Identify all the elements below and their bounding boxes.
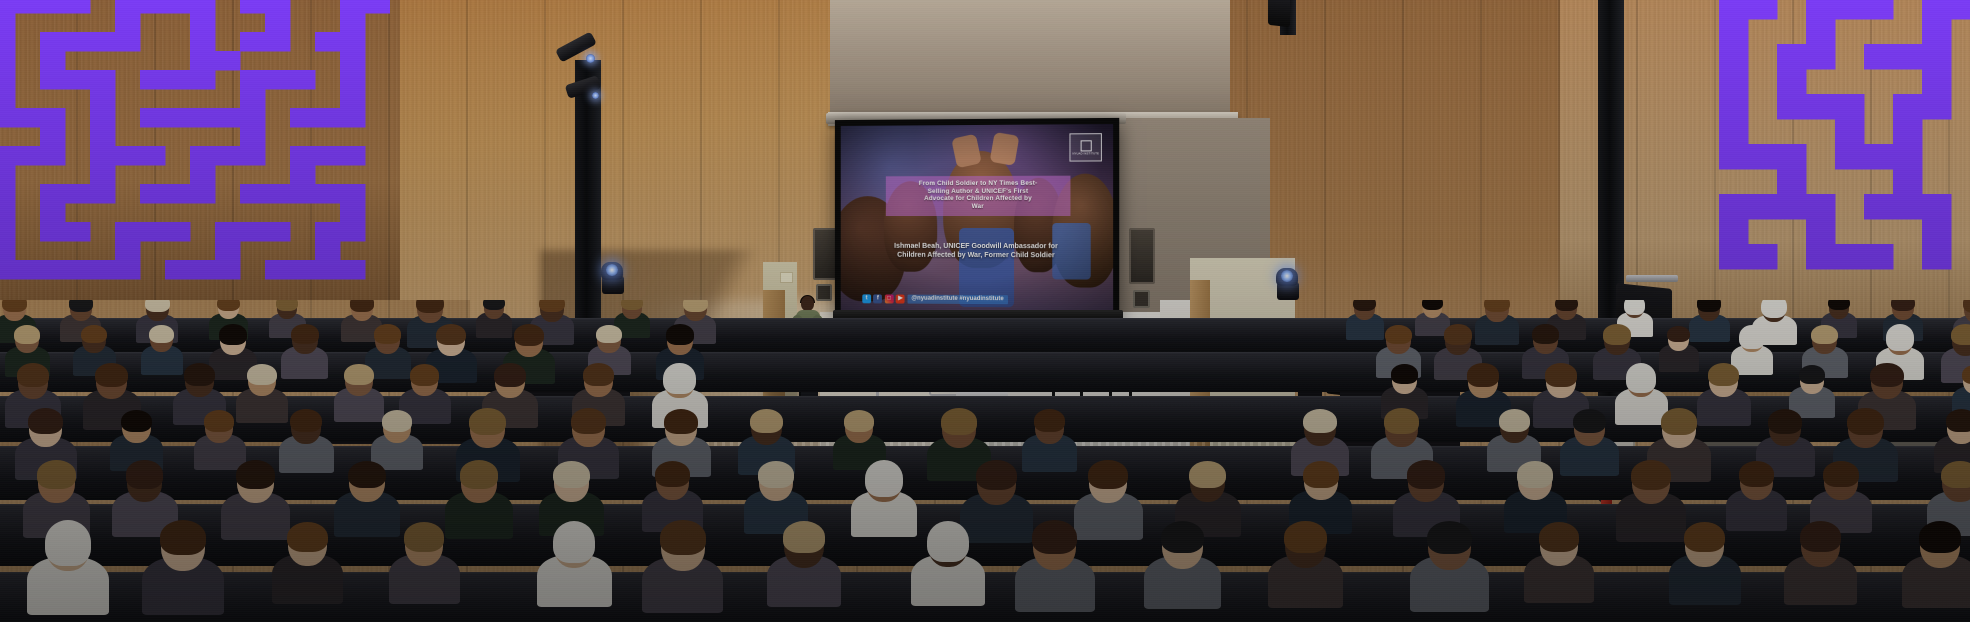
- wall-speaker-right: [1129, 228, 1155, 284]
- audience-member-hair: [1800, 521, 1841, 552]
- audience-member-hair: [1499, 409, 1530, 432]
- audience-member-hair: [184, 363, 215, 386]
- audience-member-hair: [1919, 521, 1962, 553]
- audience-member-hair: [460, 460, 499, 489]
- audience-member-hair: [1407, 460, 1445, 488]
- audience-member-hair: [247, 364, 277, 386]
- audience-member-hair: [404, 522, 445, 552]
- audience-member-hair: [1353, 300, 1376, 311]
- auditorium-photo: NYUAD INSTITUTE From Child Soldier to NY…: [0, 0, 1970, 622]
- audience-member-hair: [1161, 521, 1204, 554]
- kufic-calligraphy-left: [0, 0, 390, 294]
- audience-member-hair: [287, 522, 328, 552]
- audience-member-hair: [1303, 409, 1337, 434]
- audience-member-hair: [1886, 324, 1914, 351]
- profile-spot-light: [556, 40, 596, 54]
- audience-member-hair: [539, 300, 565, 312]
- audience-member-hair: [469, 408, 506, 435]
- nyuad-institute-logo: NYUAD INSTITUTE: [1070, 134, 1102, 162]
- audience-member-hair: [1539, 522, 1579, 552]
- audience-member-hair: [1034, 409, 1065, 432]
- audience-member-hair: [1573, 409, 1607, 434]
- audience-member-hair: [350, 300, 374, 312]
- audience-member-hair: [514, 324, 544, 346]
- audience-member-hair: [1761, 300, 1787, 318]
- audience-member-hair: [291, 324, 318, 344]
- audience-member-hair: [290, 409, 322, 432]
- audience-member-hair: [664, 409, 698, 434]
- audience-member-hair: [17, 363, 49, 387]
- projection-screen: NYUAD INSTITUTE From Child Soldier to NY…: [835, 118, 1119, 320]
- audience-member-hair: [1661, 408, 1698, 435]
- audience-member-hair: [1517, 461, 1553, 488]
- audience-member-hair: [666, 324, 694, 344]
- audience-member-hair: [553, 461, 591, 489]
- audience-member-hair: [941, 408, 977, 435]
- audience-member-hair: [149, 325, 174, 343]
- audience-member-hair: [663, 363, 695, 394]
- audience-member-hair: [571, 408, 606, 434]
- audience-member-hair: [660, 520, 706, 554]
- audience-member-hair: [927, 521, 969, 562]
- audience-member-hair: [416, 300, 443, 313]
- audience-member-hair: [1555, 300, 1578, 311]
- audience-member-hair: [583, 363, 614, 386]
- audience-member-hair: [783, 521, 825, 552]
- audience-member-hair: [276, 300, 298, 311]
- slide-subtitle: Ishmael Beah, UNICEF Goodwill Ambassador…: [851, 241, 1102, 260]
- audience-member-hair: [844, 410, 874, 432]
- audience-member-hair: [1626, 363, 1657, 392]
- audience-member-hair: [1422, 300, 1443, 310]
- audience-member-hair: [382, 410, 412, 432]
- audience-member-hair: [1532, 324, 1559, 344]
- ceiling-soffit: [830, 0, 1230, 122]
- audience-member-hair: [1870, 363, 1903, 388]
- audience-member-hair: [1631, 460, 1671, 490]
- audience-member-hair: [145, 300, 170, 312]
- audience-member-hair: [217, 300, 240, 311]
- audience-member-hair: [758, 461, 794, 488]
- audience-member-hair: [1684, 522, 1725, 553]
- audience-member-hair: [69, 300, 93, 312]
- speaker-flybar: [1626, 275, 1678, 282]
- profile-spot-light-2: [566, 80, 600, 94]
- audience-member-hair: [219, 324, 247, 344]
- kufic-calligraphy-right: [1690, 0, 1970, 294]
- audience-member-hair: [121, 410, 152, 432]
- slide-title-line-4: War: [891, 203, 1065, 211]
- audience-member-hair: [1603, 324, 1631, 344]
- audience-member-hair: [348, 461, 386, 489]
- audience-member-hair: [1941, 461, 1970, 489]
- audience-member-hair: [683, 300, 708, 312]
- wall-speaker-left: [813, 228, 837, 280]
- audience-member-hair: [1708, 363, 1739, 386]
- audience-member-hair: [1624, 300, 1645, 315]
- logo-square-mark: [1080, 140, 1091, 151]
- audience-member-hair: [865, 460, 903, 497]
- audience-member-hair: [1823, 461, 1859, 487]
- presentation-slide: NYUAD INSTITUTE From Child Soldier to NY…: [841, 124, 1113, 314]
- audience-member-hair: [1847, 408, 1884, 435]
- audience-member-hair: [553, 521, 595, 562]
- audience-member-hair: [344, 364, 373, 385]
- audience-member-hair: [655, 461, 690, 487]
- audience-member-hair: [410, 364, 440, 386]
- audience-member-hair: [37, 460, 75, 489]
- audience-member-hair: [28, 408, 64, 434]
- slide-title-box: From Child Soldier to NY Times Best- Sel…: [886, 175, 1070, 216]
- line-array-speaker-top: [1268, 0, 1290, 27]
- audience-member-hair: [596, 325, 621, 343]
- audience-member-hair: [494, 363, 526, 387]
- moving-head-light-center: [600, 262, 626, 296]
- audience-member-hair: [1384, 408, 1419, 434]
- audience-member-hair: [436, 324, 466, 346]
- audience-member-hair: [1467, 363, 1499, 386]
- audience-member-hair: [1739, 325, 1764, 349]
- audience-member-hair: [1811, 325, 1838, 344]
- logo-text: NYUAD INSTITUTE: [1072, 152, 1099, 155]
- audience-member-hair: [1385, 325, 1412, 344]
- audience-member-hair: [95, 363, 128, 388]
- audience-member-hair: [204, 410, 234, 432]
- audience-member-hair: [160, 520, 207, 555]
- audience-member-hair: [1739, 461, 1774, 487]
- audience-member-hair: [1032, 520, 1077, 554]
- audience-member-hair: [14, 325, 40, 344]
- audience-seating: [0, 300, 1970, 622]
- audience-member-hair: [45, 520, 92, 566]
- audience-member-hair: [621, 300, 643, 310]
- audience-member-hair: [1768, 409, 1802, 434]
- audience-member-hair: [1284, 521, 1327, 553]
- moving-head-light-right: [1275, 268, 1301, 302]
- audience-member-hair: [1391, 364, 1418, 384]
- audience-member-hair: [1189, 461, 1227, 489]
- audience-member-hair: [1828, 300, 1850, 310]
- audience-member-hair: [1303, 461, 1339, 488]
- audience-member-hair: [1951, 324, 1970, 345]
- audience-member-hair: [2, 300, 26, 312]
- audience-member-hair: [1427, 521, 1472, 555]
- audience-member-hair: [81, 325, 107, 343]
- audience-member-hair: [750, 409, 783, 433]
- audience-member-hair: [1946, 409, 1970, 432]
- audience-member-hair: [1545, 363, 1577, 387]
- slide-subtitle-line-2: Children Affected by War, Former Child S…: [851, 250, 1102, 260]
- audience-member-hair: [1444, 324, 1472, 344]
- audience-member-hair: [1088, 460, 1127, 489]
- audience-member-hair: [483, 300, 505, 310]
- audience-member-hair: [1799, 365, 1826, 384]
- audience-member-hair: [1667, 326, 1690, 343]
- audience-member-hair: [236, 460, 275, 489]
- audience-member-hair: [976, 460, 1017, 491]
- audience-member-hair: [374, 324, 401, 344]
- audience-member-hair: [126, 460, 164, 488]
- exit-sign: [780, 272, 793, 283]
- audience-member-hair: [1697, 300, 1721, 312]
